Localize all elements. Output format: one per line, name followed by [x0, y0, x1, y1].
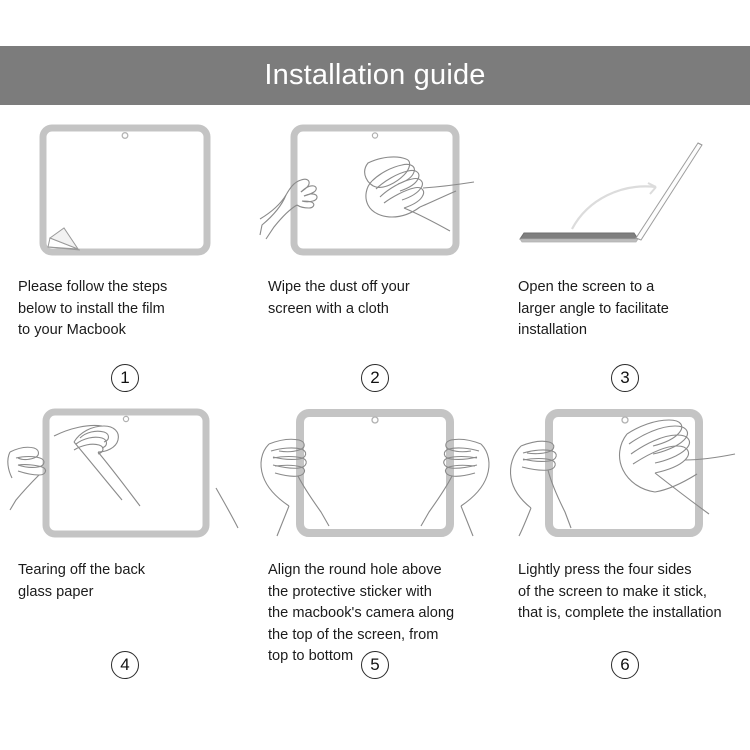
step-6-caption: Lightly press the four sides of the scre…	[518, 560, 732, 625]
wipe-screen-with-cloth-icon	[260, 125, 490, 255]
press-screen-edges-icon	[505, 408, 745, 538]
step-card-2: Wipe the dust off your screen with a clo…	[250, 125, 500, 408]
step-1-caption: Please follow the steps below to install…	[18, 277, 232, 342]
step-4-caption: Tearing off the back glass paper	[18, 560, 232, 603]
step-3-illustration	[518, 125, 732, 265]
step-4-number: 4	[111, 651, 139, 679]
step-2-caption: Wipe the dust off your screen with a clo…	[268, 277, 482, 320]
installation-guide-page: Installation guide Please follow the ste…	[0, 0, 750, 750]
step-3-caption: Open the screen to a larger angle to fac…	[518, 277, 732, 342]
step-3-number: 3	[611, 364, 639, 392]
step-5-illustration	[268, 408, 482, 548]
step-4-illustration	[18, 408, 232, 548]
step-card-6: Lightly press the four sides of the scre…	[500, 408, 750, 691]
steps-grid: Please follow the steps below to install…	[0, 125, 750, 691]
tablet-with-peeling-film-icon	[40, 125, 210, 255]
step-card-5: Align the round hole above the protectiv…	[250, 408, 500, 691]
step-1-illustration	[18, 125, 232, 265]
step-card-4: Tearing off the back glass paper 4	[0, 408, 250, 691]
align-film-two-hands-icon	[255, 408, 495, 538]
step-card-1: Please follow the steps below to install…	[0, 125, 250, 408]
tear-back-paper-icon	[10, 408, 240, 538]
step-2-number: 2	[361, 364, 389, 392]
step-2-illustration	[268, 125, 482, 265]
step-5-number: 5	[361, 651, 389, 679]
step-6-illustration	[518, 408, 732, 548]
page-title: Installation guide	[264, 59, 485, 92]
step-1-number: 1	[111, 364, 139, 392]
laptop-open-angle-icon	[510, 125, 740, 255]
header-bar: Installation guide	[0, 46, 750, 105]
step-card-3: Open the screen to a larger angle to fac…	[500, 125, 750, 408]
step-6-number: 6	[611, 651, 639, 679]
